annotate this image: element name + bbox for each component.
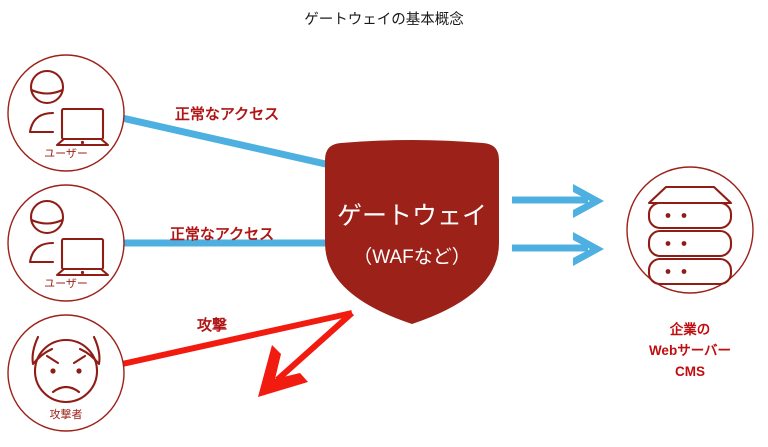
user-middle-label: ユーザー [44,277,88,290]
shield-icon [325,140,499,324]
node-gateway[interactable]: ゲートウェイ （WAFなど） [325,140,499,324]
diagram-canvas: ゲートウェイの基本概念 正常なアクセス 正常なアクセス 攻撃 [0,0,768,447]
edge-gateway-to-server-lower [512,232,604,266]
node-user-top[interactable]: ユーザー [8,55,124,171]
edge-label-normal-access-top: 正常なアクセス [175,105,279,123]
page-title: ゲートウェイの基本概念 [304,10,464,28]
node-user-middle[interactable]: ユーザー [8,185,124,301]
attacker-label: 攻撃者 [50,407,83,421]
edge-label-normal-access-middle: 正常なアクセス [170,225,274,243]
user-top-label: ユーザー [44,147,88,160]
edge-gateway-to-server-upper [512,184,604,218]
edge-attack-blocked [122,313,352,397]
server-label-line-2: Webサーバー [649,343,731,358]
server-label-line-3: CMS [675,364,705,379]
normal-access-top-line [122,118,330,165]
attack-incoming-shaft [122,313,352,364]
gateway-concept-diagram: ゲートウェイの基本概念 正常なアクセス 正常なアクセス 攻撃 [0,0,768,447]
gateway-title: ゲートウェイ [337,202,487,230]
node-attacker[interactable]: 攻撃者 [8,315,124,431]
server-label-line-1: 企業の [669,321,711,337]
gateway-subtitle: （WAFなど） [353,246,471,268]
edge-label-attack: 攻撃 [197,316,227,334]
node-server[interactable]: 企業の Webサーバー CMS [627,167,753,379]
edge-normal-access-top [122,118,330,165]
